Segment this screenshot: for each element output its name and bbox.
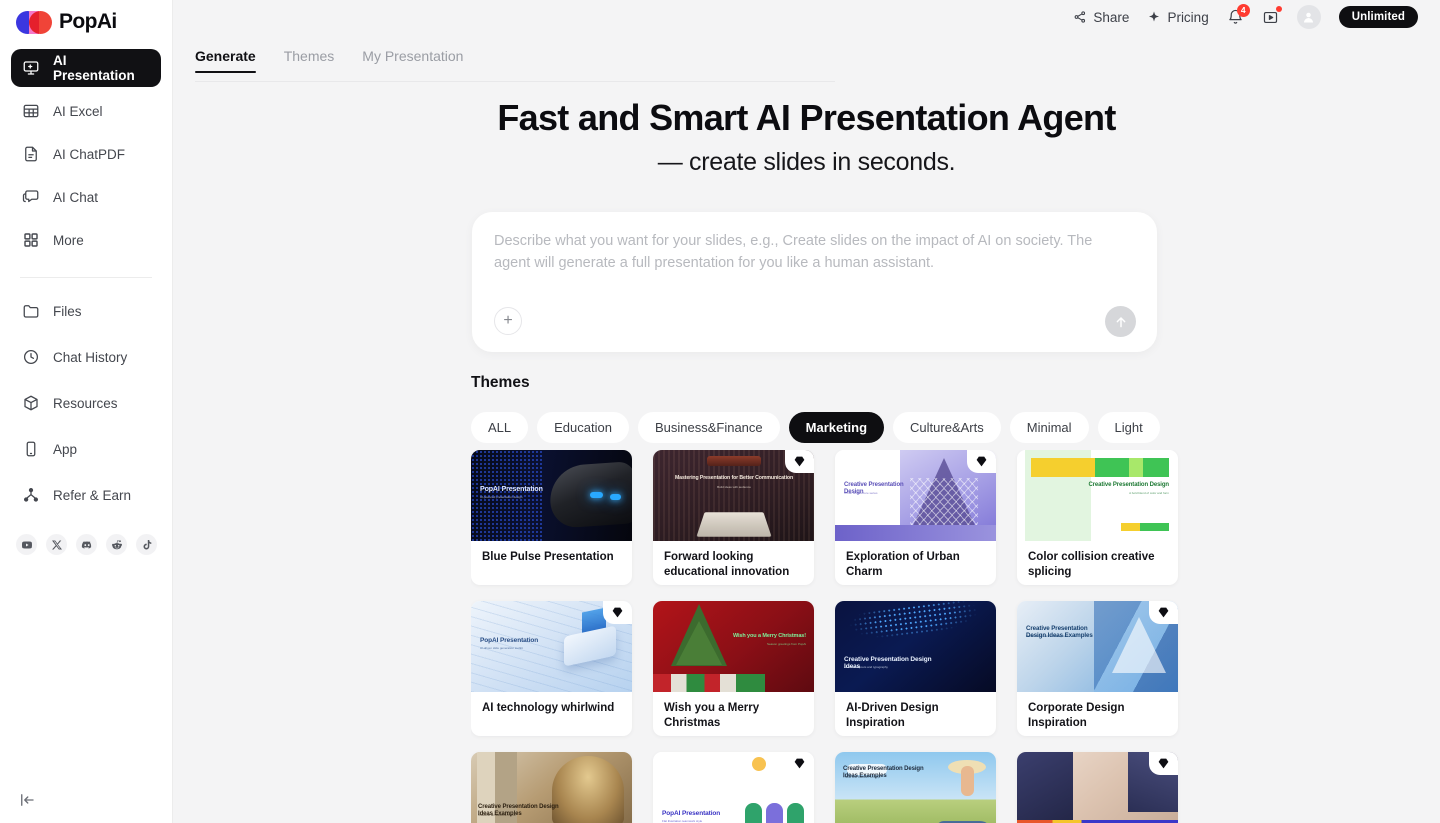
pricing-label: Pricing	[1167, 10, 1208, 25]
thumb-slide-title: PopAI Presentation	[480, 637, 558, 644]
filter-chip-minimal[interactable]: Minimal	[1010, 412, 1089, 443]
theme-card-title: Blue Pulse Presentation	[471, 541, 632, 565]
grid-squares-icon	[21, 231, 40, 250]
sidebar-item-label: Chat History	[53, 350, 127, 365]
theme-card[interactable]: Creative Presentation Design IdeasAI-dri…	[835, 601, 996, 736]
popai-logo-icon	[16, 11, 52, 34]
share-icon	[1073, 10, 1087, 24]
sidebar-item-label: Files	[53, 304, 82, 319]
theme-thumbnail: Creative Presentation Design Ideas Examp…	[1017, 601, 1178, 692]
theme-card[interactable]: Mastering Presentation for Better Commun…	[653, 450, 814, 585]
x-twitter-icon[interactable]	[46, 534, 67, 555]
sidebar-spacer	[0, 555, 172, 791]
theme-card[interactable]: Creative Presentation Design Ideas Examp…	[1017, 601, 1178, 736]
theme-card-title: Exploration of Urban Charm	[835, 541, 996, 579]
sidebar-primary-nav: AI Presentation AI Excel AI ChatPDF	[0, 46, 172, 264]
theme-card-title: Wish you a Merry Christmas	[653, 692, 814, 730]
theme-card-grid: PopAI PresentationAI-powered presentatio…	[471, 450, 1440, 823]
premium-badge	[1149, 601, 1178, 624]
theme-thumbnail: PopAI PresentationAI-driven slide genera…	[471, 601, 632, 692]
hero-section: Fast and Smart AI Presentation Agent — c…	[173, 96, 1440, 177]
sidebar-item-label: Refer & Earn	[53, 488, 131, 503]
filter-chip-culture-arts[interactable]: Culture&Arts	[893, 412, 1001, 443]
thumb-slide-subtitle: Modern corporate visual system	[1026, 634, 1098, 639]
themes-heading: Themes	[471, 374, 530, 392]
tab-generate[interactable]: Generate	[195, 48, 256, 73]
share-label: Share	[1093, 10, 1129, 25]
sidebar-item-label: AI Excel	[53, 104, 103, 119]
folder-icon	[21, 302, 40, 321]
tab-themes[interactable]: Themes	[284, 48, 335, 73]
theme-thumbnail: PopAI PresentationAI-powered presentatio…	[471, 450, 632, 541]
sidebar-item-ai-excel[interactable]: AI Excel	[11, 92, 161, 130]
thumb-slide-subtitle: Urban architecture series	[844, 491, 916, 496]
brand-logo[interactable]: PopAi	[0, 0, 172, 46]
theme-card[interactable]: Creative Presentation DesignA bold blend…	[1017, 450, 1178, 585]
sidebar: PopAi AI Presentation AI Excel	[0, 0, 173, 823]
sidebar-item-ai-chat[interactable]: AI Chat	[11, 178, 161, 216]
presentation-icon	[21, 59, 40, 78]
video-new-dot	[1276, 6, 1282, 12]
collapse-sidebar-button[interactable]	[0, 791, 172, 823]
thumb-slide-subtitle: Build ideas with audience	[665, 485, 803, 490]
mobile-icon	[21, 440, 40, 459]
clock-icon	[21, 348, 40, 367]
sidebar-divider	[20, 277, 152, 278]
sidebar-item-files[interactable]: Files	[11, 292, 161, 330]
sidebar-item-chat-history[interactable]: Chat History	[11, 338, 161, 376]
theme-thumbnail: Mastering Presentation for Better Commun…	[653, 450, 814, 541]
pricing-button[interactable]: Pricing	[1147, 10, 1208, 25]
thumb-slide-subtitle: AI-driven layouts and typography	[844, 665, 936, 670]
youtube-icon[interactable]	[16, 534, 37, 555]
filter-chip-education[interactable]: Education	[537, 412, 629, 443]
theme-card-title: Forward looking educational innovation	[653, 541, 814, 579]
share-button[interactable]: Share	[1073, 10, 1129, 25]
theme-thumbnail: Creative Presentation DesignA bold blend…	[1017, 450, 1178, 541]
avatar[interactable]	[1297, 5, 1321, 29]
plan-badge[interactable]: Unlimited	[1339, 6, 1418, 28]
theme-card[interactable]: PopAI PresentationAI-driven slide genera…	[471, 601, 632, 736]
theme-card-title: AI-Driven Design Inspiration	[835, 692, 996, 730]
theme-thumbnail: Wish you a Merry Christmas!Season greeti…	[653, 601, 814, 692]
gem-icon	[975, 455, 988, 468]
notification-badge: 4	[1237, 4, 1250, 17]
sidebar-item-ai-presentation[interactable]: AI Presentation	[11, 49, 161, 87]
gem-icon	[611, 606, 624, 619]
sidebar-item-more[interactable]: More	[11, 221, 161, 259]
filter-chip-light[interactable]: Light	[1098, 412, 1160, 443]
thumb-slide-subtitle: AI-powered presentation design	[480, 495, 558, 500]
thumb-slide-title: Creative Presentation Design	[1087, 482, 1169, 489]
chat-bubble-icon	[21, 188, 40, 207]
theme-card-title: Corporate Design Inspiration	[1017, 692, 1178, 730]
add-attachment-button[interactable]: +	[494, 307, 522, 335]
premium-badge	[603, 601, 632, 624]
thumb-slide-subtitle: Season greetings from PopAi	[732, 642, 806, 647]
theme-card[interactable]: Creative Presentation Design Ideas Examp…	[471, 752, 632, 823]
thumb-slide-subtitle: A bold blend of color and form	[1087, 491, 1169, 496]
send-prompt-button[interactable]	[1105, 306, 1136, 337]
sidebar-secondary-nav: Files Chat History Resources	[0, 292, 172, 522]
table-icon	[21, 102, 40, 121]
sidebar-item-label: Resources	[53, 396, 118, 411]
tab-my-presentation[interactable]: My Presentation	[362, 48, 463, 73]
theme-card[interactable]: PopAI PresentationAI-powered presentatio…	[471, 450, 632, 585]
tiktok-icon[interactable]	[136, 534, 157, 555]
sparkle-icon	[1147, 10, 1161, 24]
gem-icon	[1157, 757, 1170, 770]
premium-badge	[785, 752, 814, 775]
top-bar: Share Pricing 4 Unlimited	[1073, 0, 1440, 34]
notifications-button[interactable]: 4	[1227, 9, 1244, 26]
prompt-placeholder[interactable]: Describe what you want for your slides, …	[494, 230, 1131, 274]
document-icon	[21, 145, 40, 164]
theme-thumbnail: Creative Presentation Design Ideas Examp…	[835, 752, 996, 823]
user-avatar-icon	[1301, 10, 1316, 25]
theme-card[interactable]: Wish you a Merry Christmas!Season greeti…	[653, 601, 814, 736]
social-links	[0, 522, 172, 555]
sidebar-item-label: App	[53, 442, 77, 457]
sidebar-item-ai-chatpdf[interactable]: AI ChatPDF	[11, 135, 161, 173]
arrow-up-icon	[1113, 314, 1129, 330]
page-subtitle: — create slides in seconds.	[173, 148, 1440, 177]
theme-thumbnail: Creative Presentation Design IdeasAI-dri…	[835, 601, 996, 692]
thumb-slide-subtitle: AI-driven slide generation toolkit	[480, 646, 558, 651]
premium-badge	[785, 450, 814, 473]
theme-card-title: AI technology whirlwind	[471, 692, 632, 716]
thumb-slide-title: PopAI Presentation	[662, 810, 740, 817]
discord-icon[interactable]	[76, 534, 97, 555]
page-title: Fast and Smart AI Presentation Agent	[173, 96, 1440, 140]
sidebar-item-label: AI Presentation	[53, 53, 151, 83]
premium-badge	[1149, 752, 1178, 775]
theme-thumbnail: Creative Presentation DesignUrban archit…	[835, 450, 996, 541]
filter-chip-business-finance[interactable]: Business&Finance	[638, 412, 780, 443]
theme-card[interactable]	[1017, 752, 1178, 823]
filter-chip-all[interactable]: ALL	[471, 412, 528, 443]
box-icon	[21, 394, 40, 413]
prompt-input-box[interactable]: Describe what you want for your slides, …	[472, 212, 1157, 352]
content-tabs: Generate Themes My Presentation	[195, 48, 1440, 73]
share-nodes-icon	[21, 486, 40, 505]
premium-badge	[967, 450, 996, 473]
theme-thumbnail	[1017, 752, 1178, 823]
sidebar-item-resources[interactable]: Resources	[11, 384, 161, 422]
thumb-slide-subtitle: Travel and freedom concept	[843, 775, 927, 780]
main-content: Share Pricing 4 Unlimited Generate	[173, 0, 1440, 823]
gem-icon	[1157, 606, 1170, 619]
brand-name: PopAi	[59, 10, 117, 34]
thumb-slide-title: Wish you a Merry Christmas!	[732, 633, 806, 639]
theme-card[interactable]: PopAI PresentationFlat illustration team…	[653, 752, 814, 823]
theme-thumbnail: Creative Presentation Design Ideas Examp…	[471, 752, 632, 823]
thumb-slide-title: PopAI Presentation	[480, 486, 558, 494]
thumb-slide-subtitle: Flat illustration teamwork style	[662, 819, 740, 823]
collapse-left-icon	[18, 791, 36, 809]
gem-icon	[793, 757, 806, 770]
filter-chip-marketing[interactable]: Marketing	[789, 412, 884, 443]
sidebar-item-label: AI Chat	[53, 190, 98, 205]
sidebar-item-label: AI ChatPDF	[53, 147, 125, 162]
theme-card[interactable]: Creative Presentation DesignUrban archit…	[835, 450, 996, 585]
sidebar-item-label: More	[53, 233, 84, 248]
theme-card[interactable]: Creative Presentation Design Ideas Examp…	[835, 752, 996, 823]
sidebar-item-app[interactable]: App	[11, 430, 161, 468]
gem-icon	[793, 455, 806, 468]
theme-card-title: Color collision creative splicing	[1017, 541, 1178, 579]
tabs-underline-rule	[195, 81, 835, 82]
theme-filter-chips: ALL Education Business&Finance Marketing…	[471, 412, 1440, 443]
reddit-icon[interactable]	[106, 534, 127, 555]
thumb-slide-title: Mastering Presentation for Better Commun…	[665, 476, 803, 482]
sidebar-item-refer-and-earn[interactable]: Refer & Earn	[11, 476, 161, 514]
theme-thumbnail: PopAI PresentationFlat illustration team…	[653, 752, 814, 823]
video-tutorial-button[interactable]	[1262, 9, 1279, 26]
thumb-slide-subtitle: Classical architecture theme	[478, 813, 562, 818]
